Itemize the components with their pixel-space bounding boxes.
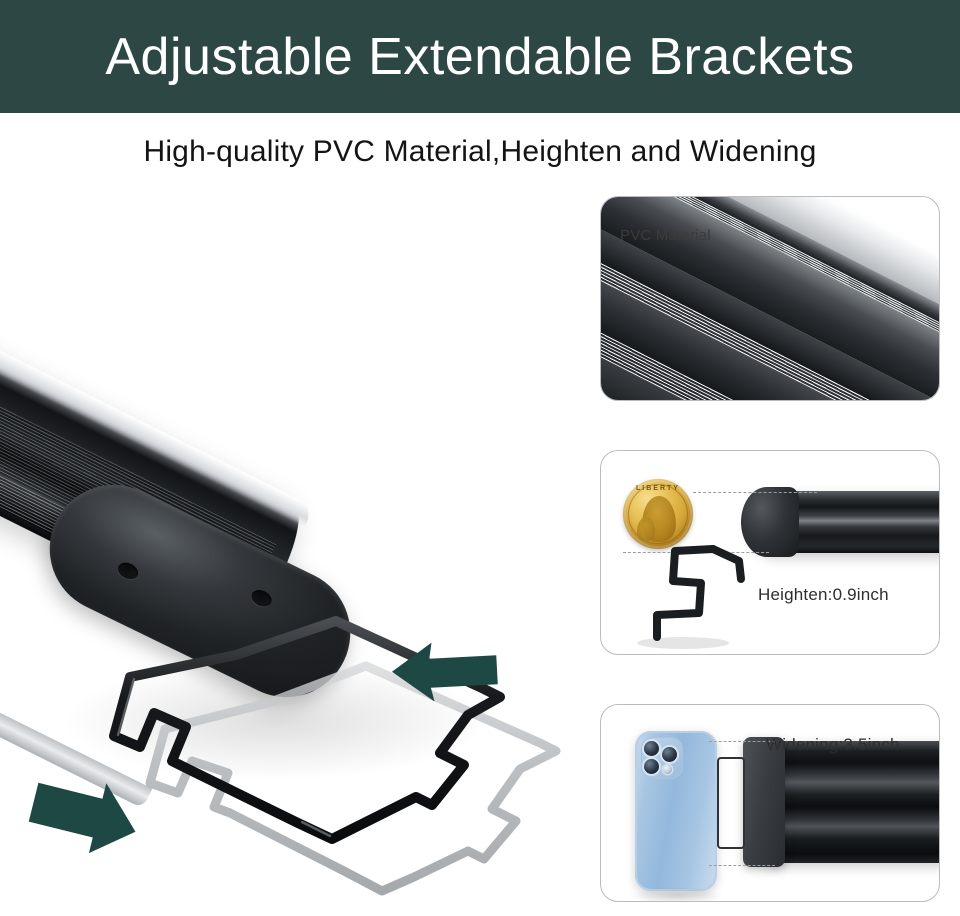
camera-lens-icon — [662, 747, 677, 762]
phone-camera-module — [641, 737, 683, 779]
card-label-heighten: Heighten:0.9inch — [758, 585, 889, 605]
product-infographic-page: Adjustable Extendable Brackets High-qual… — [0, 0, 960, 916]
card-label-pvc: PVC Material — [620, 227, 711, 244]
measure-dashline-bottom — [709, 865, 775, 866]
card-widening: Widening:3.5inch — [600, 704, 940, 902]
subtitle-bar: High-quality PVC Material,Heighten and W… — [0, 113, 960, 191]
camera-flash-icon — [663, 765, 672, 774]
screw-hole-icon — [115, 560, 140, 583]
card-label-widening: Widening:3.5inch — [766, 735, 900, 755]
hero-product-image — [0, 191, 596, 916]
page-title: Adjustable Extendable Brackets — [105, 31, 854, 83]
light-bar-endcap-widening — [743, 737, 785, 867]
header-band: Adjustable Extendable Brackets — [0, 0, 960, 113]
card-heighten: LIBERTY Heighten:0.9inch — [600, 450, 940, 655]
camera-lens-icon — [644, 759, 659, 774]
light-bar-end-closeup — [767, 741, 940, 863]
phone-shadow — [629, 887, 725, 902]
bracket-hook-closeup — [601, 451, 940, 655]
card-pvc-material: PVC Material — [600, 196, 940, 401]
camera-lens-icon — [644, 741, 659, 756]
page-subtitle: High-quality PVC Material,Heighten and W… — [143, 135, 816, 169]
screw-hole-icon — [249, 587, 274, 610]
phone-reference — [635, 731, 717, 891]
bracket-wire-widening — [717, 757, 745, 849]
